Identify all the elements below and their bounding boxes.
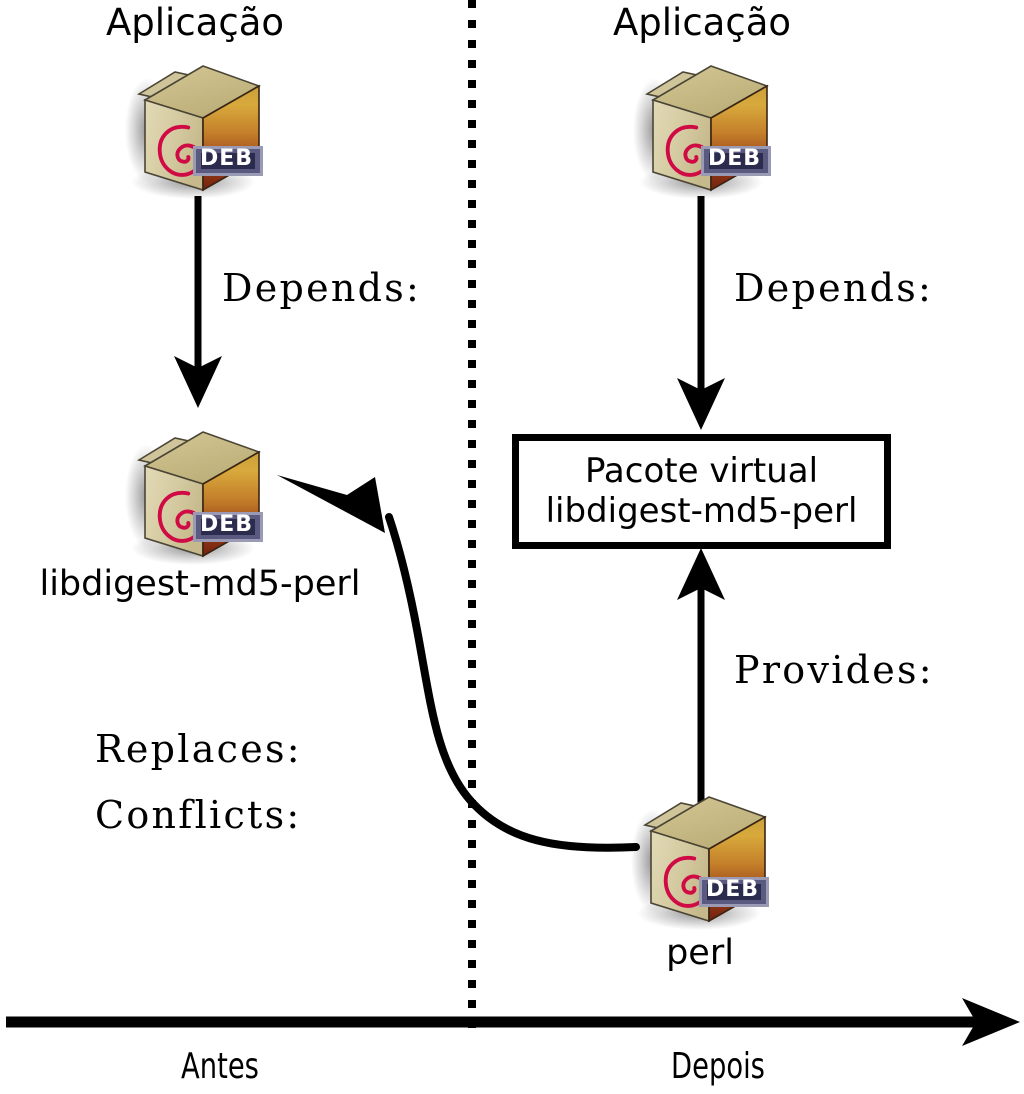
timeline-label-before: Antes — [144, 1046, 296, 1087]
provides-label: Provides: — [734, 648, 934, 692]
deb-badge-text-left-app: DEB — [200, 146, 253, 171]
deb-badge-text-provider: DEB — [706, 877, 759, 902]
virtual-package-line2: libdigest-md5-perl — [546, 492, 858, 532]
virtual-package-line1: Pacote virtual — [585, 452, 818, 492]
virtual-package-box: Pacote virtual libdigest-md5-perl — [512, 434, 891, 549]
provides-arrow — [671, 548, 731, 806]
provider-package-label: perl — [600, 935, 800, 973]
timeline-label-after: Depois — [634, 1046, 801, 1087]
deb-badge-text-left-target: DEB — [200, 512, 253, 537]
left-app-package-icon — [112, 52, 282, 202]
left-depends-arrow — [168, 196, 228, 411]
right-app-title: Aplicação — [552, 3, 852, 43]
left-app-title: Aplicação — [45, 3, 345, 43]
left-depends-label: Depends: — [222, 266, 421, 310]
deb-badge-text-right-app: DEB — [708, 146, 761, 171]
dependency-diagram: Aplicação Depends: libdigest-md5-perl Re… — [0, 0, 1024, 1094]
provider-package-icon — [618, 783, 788, 933]
timeline-axis — [0, 1000, 1024, 1050]
right-app-package-icon — [620, 52, 790, 202]
right-depends-label: Depends: — [734, 266, 933, 310]
right-depends-arrow — [671, 196, 731, 432]
